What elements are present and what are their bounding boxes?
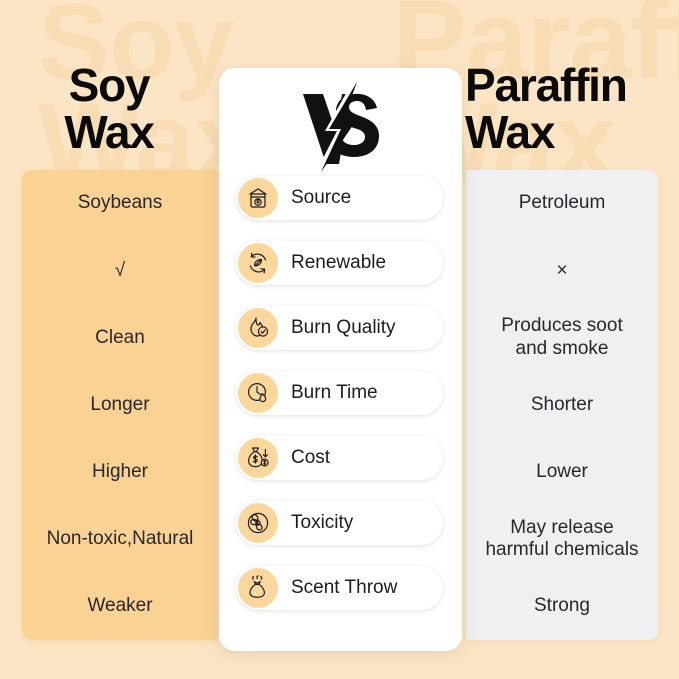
attribute-row[interactable]: Burn Time — [236, 371, 445, 415]
soy-value-toxicity: Non-toxic,Natural — [22, 506, 218, 573]
attribute-card: Source Renewable — [219, 68, 462, 651]
soy-value-cost: Higher — [22, 439, 218, 506]
attribute-row[interactable]: Renewable — [236, 241, 445, 285]
paraffin-value-cost: Lower — [466, 439, 658, 506]
attribute-label: Renewable — [291, 252, 386, 274]
heading-paraffin-wax: Paraffin Wax — [465, 62, 679, 156]
paraffin-value-burn-quality: Produces soot and smoke — [466, 304, 658, 371]
infographic-root: Soy Wax Paraffin Wax Soy Wax Paraffin Wa… — [0, 0, 679, 679]
attribute-label: Burn Quality — [291, 317, 396, 339]
soy-value-burn-quality: Clean — [22, 304, 218, 371]
jar-leaf-icon — [238, 178, 278, 218]
attribute-row-list: Source Renewable — [236, 176, 445, 631]
recycle-leaf-icon — [238, 243, 278, 283]
attribute-row[interactable]: Toxicity — [236, 501, 445, 545]
paraffin-value-burn-time: Shorter — [466, 371, 658, 438]
vs-logo — [219, 76, 462, 176]
soy-value-burn-time: Longer — [22, 371, 218, 438]
attribute-row[interactable]: Cost — [236, 436, 445, 480]
attribute-label: Toxicity — [291, 512, 353, 534]
soy-value-renewable: √ — [22, 237, 218, 304]
paraffin-value-renewable: × — [466, 237, 658, 304]
paraffin-wax-values-panel: Petroleum × Produces soot and smoke Shor… — [466, 170, 658, 640]
attribute-label: Burn Time — [291, 382, 378, 404]
scent-sachet-icon — [238, 568, 278, 608]
paraffin-value-source: Petroleum — [466, 170, 658, 237]
flame-check-icon — [238, 308, 278, 348]
attribute-label: Scent Throw — [291, 577, 397, 599]
soy-value-scent-throw: Weaker — [22, 573, 218, 640]
heading-soy-wax: Soy Wax — [0, 62, 218, 156]
paraffin-value-scent-throw: Strong — [466, 573, 658, 640]
paraffin-value-toxicity: May release harmful chemicals — [466, 506, 658, 573]
attribute-label: Source — [291, 187, 351, 209]
money-bag-icon — [238, 438, 278, 478]
biohazard-icon — [238, 503, 278, 543]
attribute-row[interactable]: Burn Quality — [236, 306, 445, 350]
soy-value-source: Soybeans — [22, 170, 218, 237]
attribute-row[interactable]: Scent Throw — [236, 566, 445, 610]
attribute-label: Cost — [291, 447, 330, 469]
clock-flame-icon — [238, 373, 278, 413]
soy-wax-values-panel: Soybeans √ Clean Longer Higher Non-toxic… — [22, 170, 218, 640]
attribute-row[interactable]: Source — [236, 176, 445, 220]
